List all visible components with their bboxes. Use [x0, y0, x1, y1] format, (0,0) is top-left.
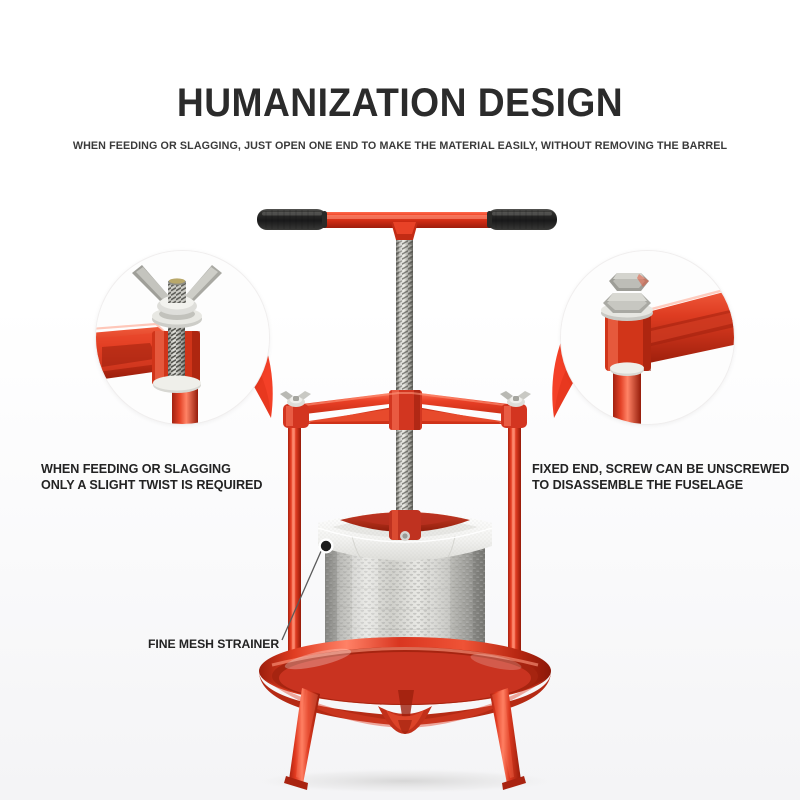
infographic-canvas: HUMANIZATION DESIGN WHEN FEEDING OR SLAG… — [0, 0, 800, 800]
callout-right-circle[interactable] — [560, 250, 735, 425]
callout-bottom-line1: FINE MESH STRAINER — [148, 637, 279, 653]
callout-right-line1: FIXED END, SCREW CAN BE UNSCREWED — [532, 462, 789, 478]
rubber-grip-right — [487, 209, 557, 230]
wing-nut-detail-illustration — [96, 251, 270, 425]
callout-left-label: WHEN FEEDING OR SLAGGING ONLY A SLIGHT T… — [41, 462, 262, 493]
callout-bottom-label: FINE MESH STRAINER — [148, 637, 279, 653]
callout-left-line2: ONLY A SLIGHT TWIST IS REQUIRED — [41, 478, 262, 494]
callout-right-label: FIXED END, SCREW CAN BE UNSCREWED TO DIS… — [532, 462, 789, 493]
hex-bolt-detail-illustration — [561, 251, 735, 425]
threaded-screw-rod — [396, 222, 413, 552]
rubber-grip-left — [257, 209, 327, 230]
t-bar-handle — [257, 209, 557, 240]
callout-left-line1: WHEN FEEDING OR SLAGGING — [41, 462, 262, 478]
callout-right-line2: TO DISASSEMBLE THE FUSELAGE — [532, 478, 789, 494]
callout-left-circle[interactable] — [95, 250, 270, 425]
